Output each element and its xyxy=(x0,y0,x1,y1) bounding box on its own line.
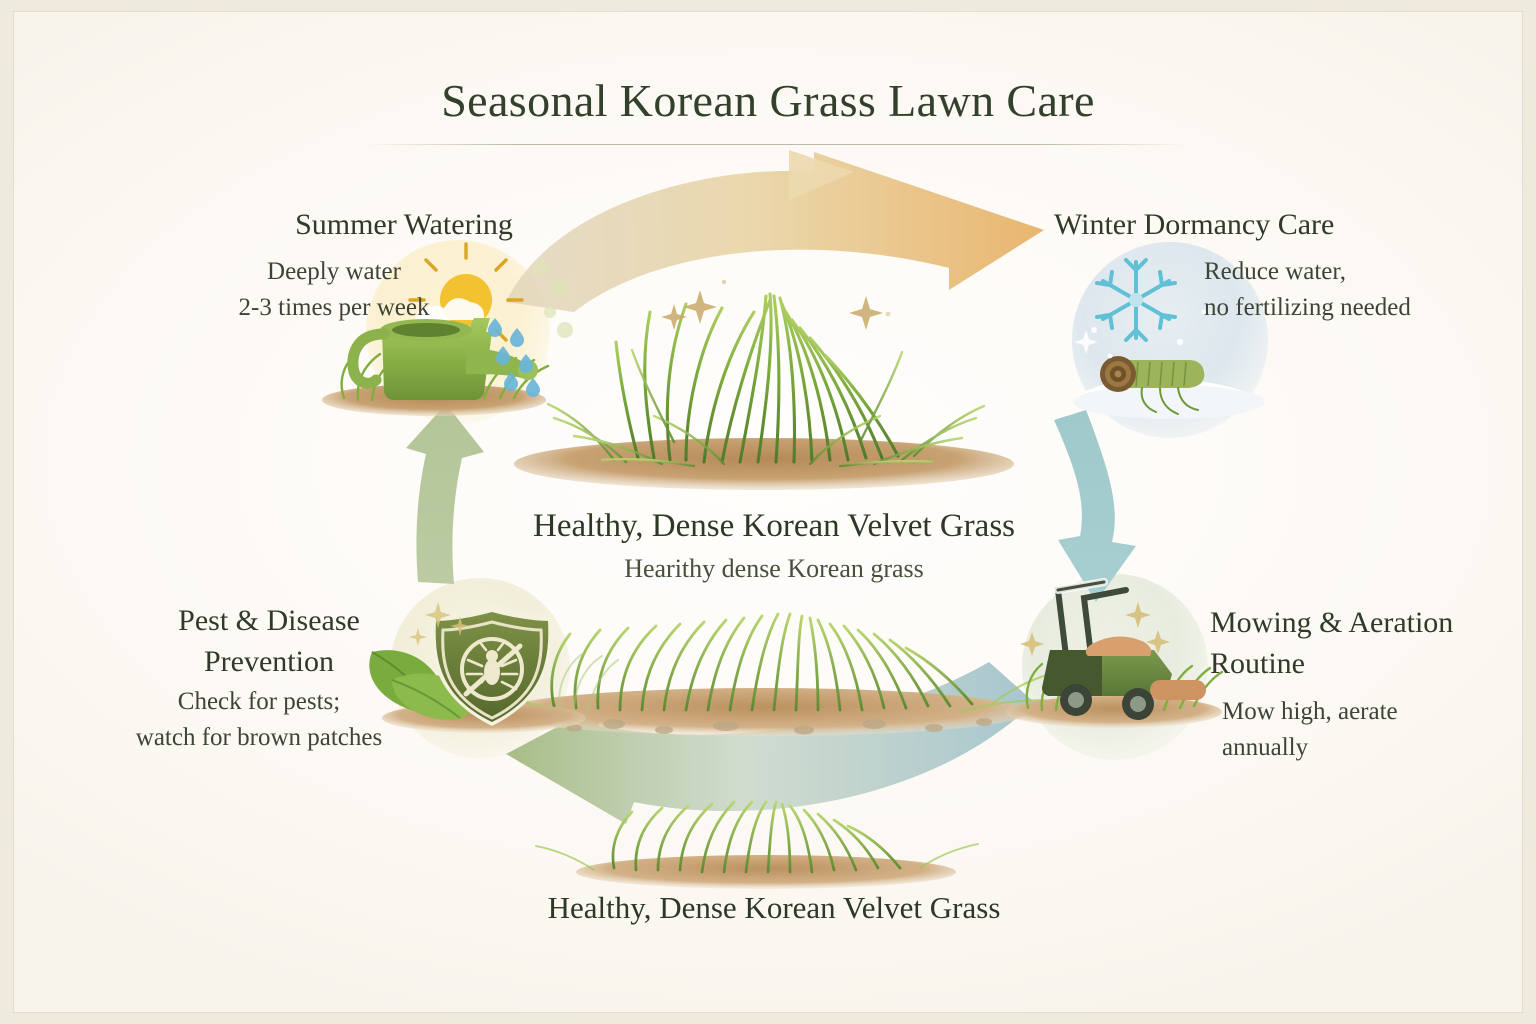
pest-detail: Check for pests; watch for brown patches xyxy=(84,684,434,757)
mowing-heading: Mowing & Aeration Routine xyxy=(1210,602,1510,685)
mowing-icon-halo xyxy=(1022,574,1208,760)
summer-heading: Summer Watering xyxy=(164,204,644,245)
winter-heading: Winter Dormancy Care xyxy=(1054,204,1474,245)
title-divider xyxy=(366,144,1186,145)
winter-detail: Reduce water, no fertilizing needed xyxy=(1204,254,1504,327)
pest-heading: Pest & Disease Prevention xyxy=(114,600,424,683)
center-heading: Healthy, Dense Korean Velvet Grass xyxy=(394,508,1154,545)
mowing-detail: Mow high, aerate annually xyxy=(1222,694,1492,767)
center-subheading: Hearithy dense Korean grass xyxy=(434,554,1114,584)
center-grass-mound-top xyxy=(514,280,1014,490)
center-grass-patch-bottom xyxy=(536,802,978,889)
arrow-mowing-to-pest xyxy=(506,662,1034,824)
page-title: Seasonal Korean Grass Lawn Care xyxy=(14,74,1522,127)
summer-detail: Deeply water 2-3 times per week xyxy=(134,254,534,327)
bottom-caption: Healthy, Dense Korean Velvet Grass xyxy=(394,890,1154,926)
sparkle-cluster-top xyxy=(661,280,890,330)
infographic-canvas: Seasonal Korean Grass Lawn Care xyxy=(14,12,1522,1012)
pebble-cluster-middle xyxy=(566,718,992,735)
